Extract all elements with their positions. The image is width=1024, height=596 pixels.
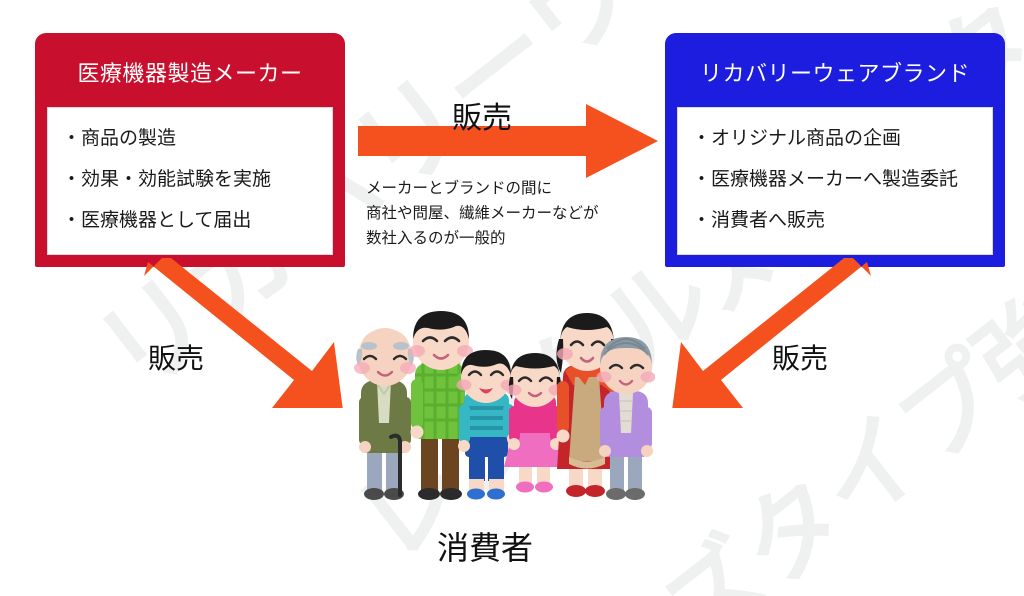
brand-bullet-3: ・消費者へ販売 bbox=[692, 210, 978, 232]
label-sell-right: 販売 bbox=[772, 337, 828, 377]
maker-bullet-1: ・商品の製造 bbox=[62, 128, 318, 150]
brand-box-title: リカバリーウェアブランド bbox=[665, 33, 1005, 107]
consumer-family-illustration bbox=[345, 305, 655, 510]
maker-box-body: ・商品の製造 ・効果・効能試験を実施 ・医療機器として届出 bbox=[47, 107, 333, 255]
brand-bullet-1: ・オリジナル商品の企画 bbox=[692, 128, 978, 150]
note-line-2: 商社や問屋、繊維メーカーなどが bbox=[366, 201, 599, 226]
arrow-maker-to-consumer-icon bbox=[140, 258, 360, 408]
note-line-3: 数社入るのが一般的 bbox=[366, 226, 599, 251]
label-sell-left: 販売 bbox=[148, 337, 204, 377]
maker-box-title: 医療機器製造メーカー bbox=[35, 33, 345, 107]
diagram-canvas: リカバリーウェア レンタル太郎スター ズタイプ強自 医療機器製造メーカー ・商品… bbox=[0, 0, 1024, 596]
maker-box: 医療機器製造メーカー ・商品の製造 ・効果・効能試験を実施 ・医療機器として届出 bbox=[35, 33, 345, 267]
brand-bullet-2: ・医療機器メーカーへ製造委託 bbox=[692, 169, 978, 191]
note-line-1: メーカーとブランドの間に bbox=[366, 176, 599, 201]
arrow-brand-to-consumer-icon bbox=[655, 258, 875, 408]
figure-grandfather bbox=[354, 328, 416, 500]
brand-box: リカバリーウェアブランド ・オリジナル商品の企画 ・医療機器メーカーへ製造委託 … bbox=[665, 33, 1005, 267]
figure-grandmother bbox=[597, 337, 656, 500]
brand-box-body: ・オリジナル商品の企画 ・医療機器メーカーへ製造委託 ・消費者へ販売 bbox=[677, 107, 993, 255]
maker-bullet-3: ・医療機器として届出 bbox=[62, 210, 318, 232]
intermediary-note: メーカーとブランドの間に 商社や問屋、繊維メーカーなどが 数社入るのが一般的 bbox=[366, 176, 599, 251]
maker-bullet-2: ・効果・効能試験を実施 bbox=[62, 169, 318, 191]
figure-girl bbox=[504, 353, 566, 493]
label-consumer: 消費者 bbox=[437, 523, 533, 569]
label-sell-top: 販売 bbox=[452, 93, 512, 137]
